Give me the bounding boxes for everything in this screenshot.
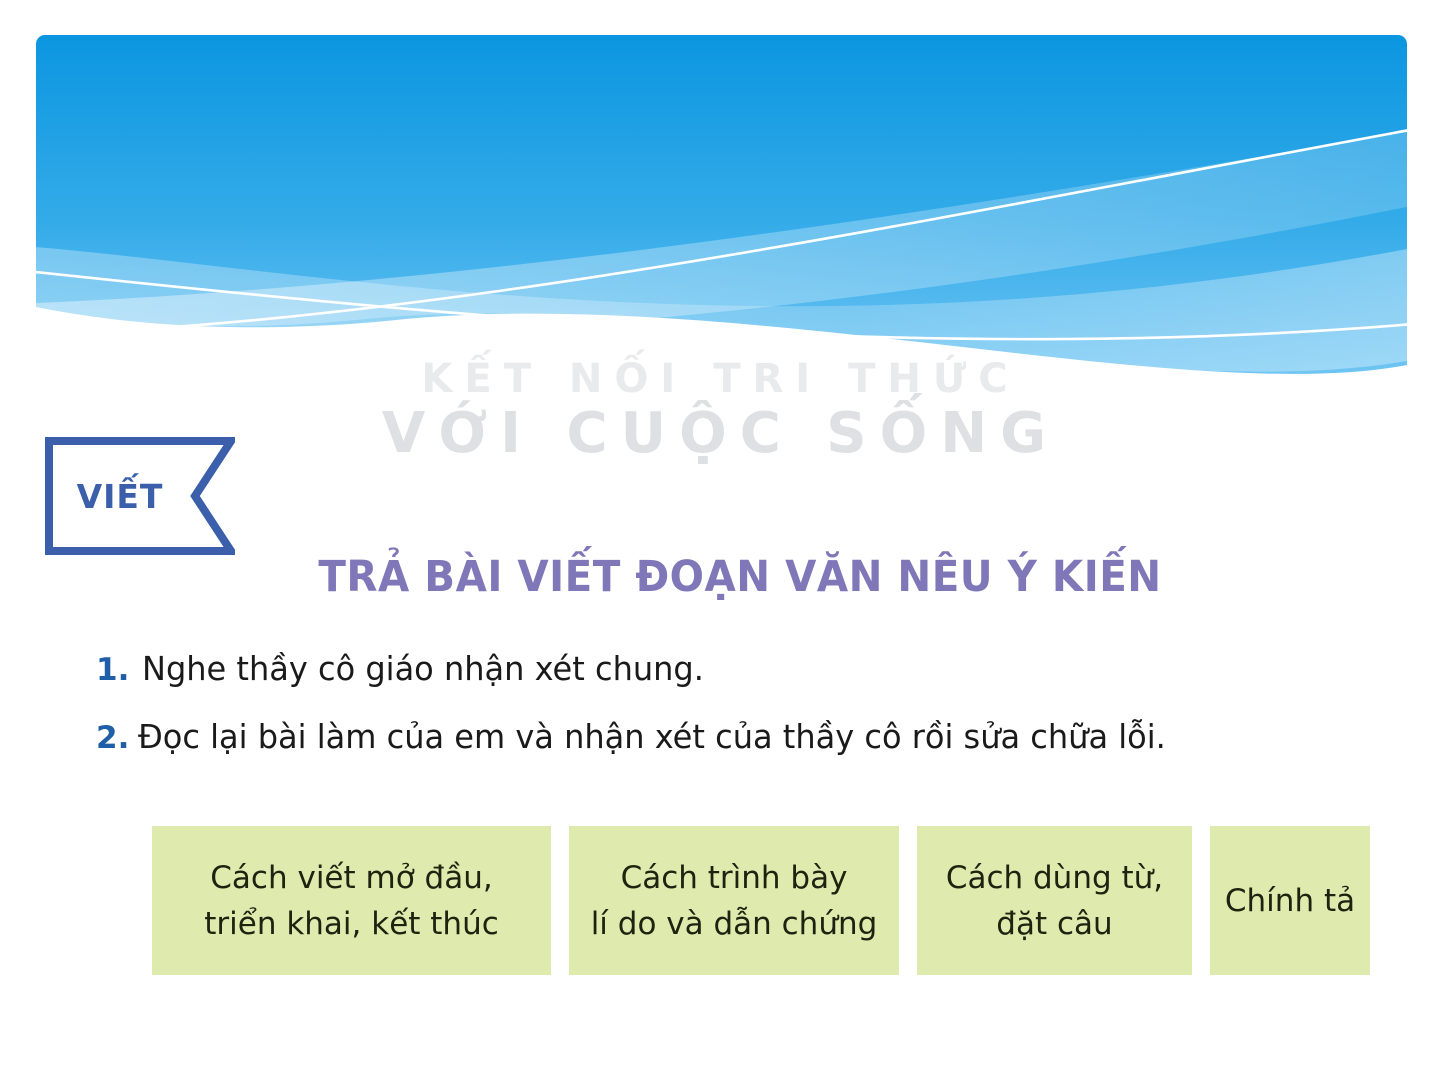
criteria-box-reasons-evidence: Cách trình bày lí do và dẫn chứng: [569, 826, 899, 975]
criteria-box-row: Cách viết mở đầu, triển khai, kết thúc C…: [152, 826, 1370, 975]
viet-section-ribbon: VIẾT: [45, 437, 235, 555]
header-decoration-band: [36, 35, 1407, 390]
criteria-box-spelling: Chính tả: [1210, 826, 1370, 975]
ribbon-label: VIẾT: [45, 437, 195, 555]
list-item-number: 2.: [96, 720, 138, 756]
list-item-text: Nghe thầy cô giáo nhận xét chung.: [142, 648, 704, 690]
list-item-number: 1.: [96, 652, 142, 688]
page-title: TRẢ BÀI VIẾT ĐOẠN VĂN NÊU Ý KIẾN: [270, 552, 1210, 602]
list-item-text: Đọc lại bài làm của em và nhận xét của t…: [138, 716, 1166, 758]
instruction-list: 1. Nghe thầy cô giáo nhận xét chung. 2. …: [96, 648, 1376, 784]
list-item: 2. Đọc lại bài làm của em và nhận xét củ…: [96, 716, 1376, 758]
criteria-box-opening-structure: Cách viết mở đầu, triển khai, kết thúc: [152, 826, 551, 975]
list-item: 1. Nghe thầy cô giáo nhận xét chung.: [96, 648, 1376, 690]
criteria-box-word-sentence-use: Cách dùng từ, đặt câu: [917, 826, 1192, 975]
slide-canvas: KẾT NỐI TRI THỨC VỚI CUỘC SỐNG VIẾT TRẢ …: [0, 0, 1441, 1081]
